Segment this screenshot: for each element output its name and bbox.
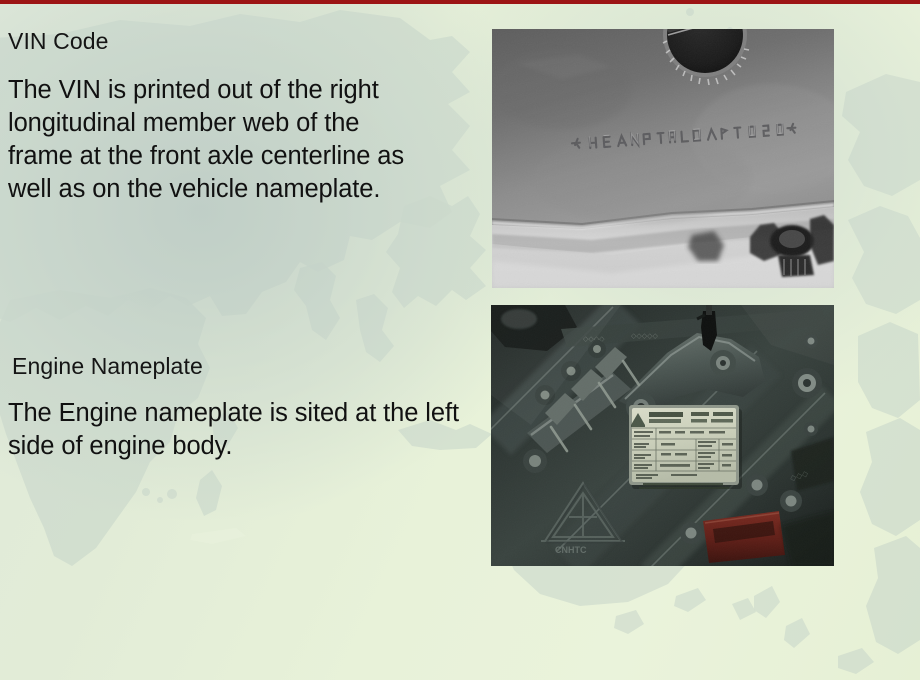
engine-section-body: The Engine nameplate is sited at the lef… xyxy=(8,397,468,463)
vin-section-body: The VIN is printed out of the right long… xyxy=(8,74,428,206)
engine-nameplate-photo: ◇◇◇◇ ◇◇◇◇◇ xyxy=(491,305,834,566)
top-accent-bar xyxy=(0,0,920,4)
engine-section-heading: Engine Nameplate xyxy=(12,353,203,380)
slide-canvas: VIN Code The VIN is printed out of the r… xyxy=(0,0,920,680)
vin-section-heading: VIN Code xyxy=(8,28,109,55)
vin-stamping-photo xyxy=(492,29,834,288)
